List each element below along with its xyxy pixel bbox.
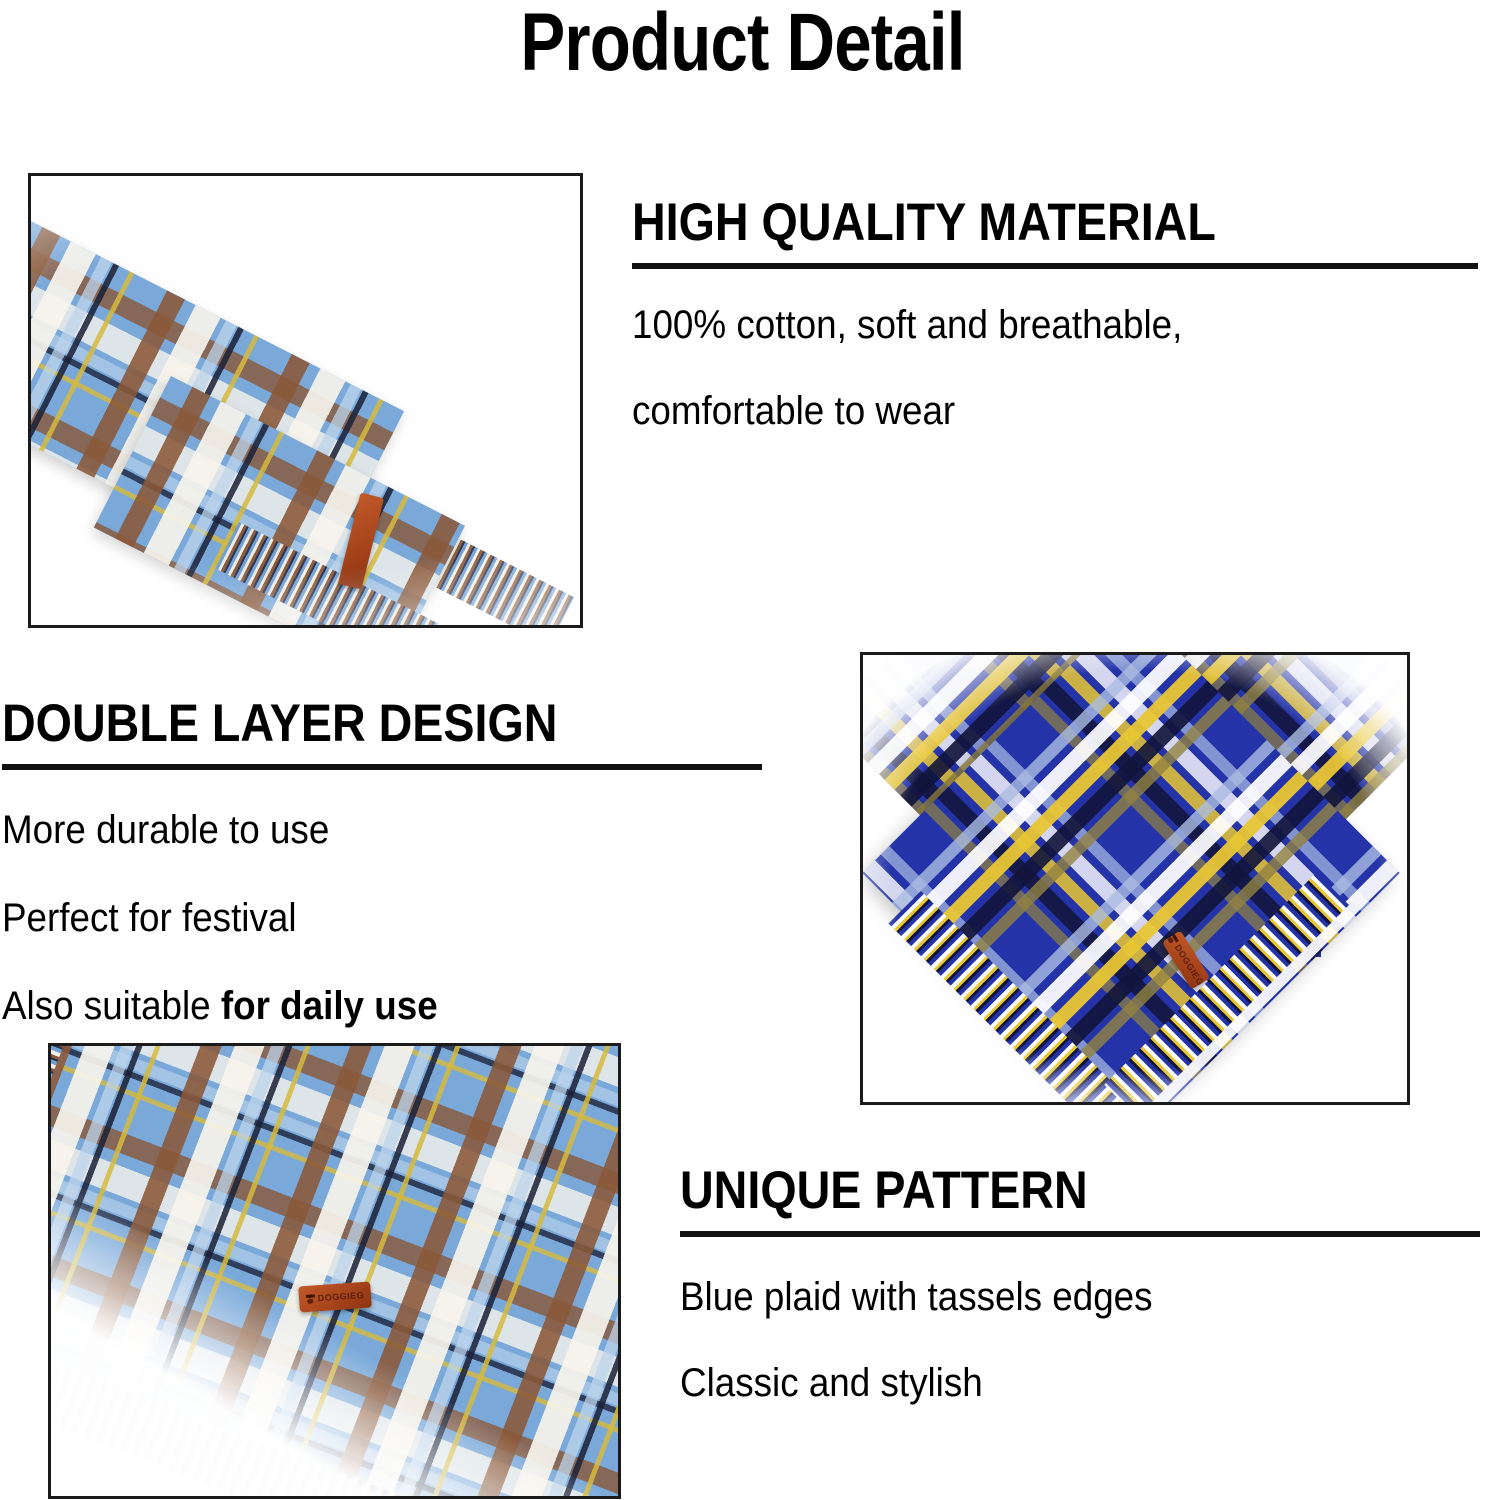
- brand-tag-label: DOGGIEG: [317, 1290, 364, 1303]
- feature-line: Perfect for festival: [2, 898, 703, 938]
- feature-line-plain: Also suitable: [2, 984, 221, 1028]
- feature-body: 100% cotton, soft and breathable, comfor…: [632, 305, 1480, 431]
- feature-line: Blue plaid with tassels edges: [680, 1277, 1416, 1317]
- feature-line-emphasis: for daily use: [221, 984, 438, 1028]
- heading-rule: [632, 263, 1478, 269]
- feature-heading: HIGH QUALITY MATERIAL: [632, 196, 1378, 249]
- heading-rule: [2, 764, 762, 770]
- product-photo-blue-triangle: DOGGIEG: [860, 652, 1410, 1105]
- photo-inner: [31, 176, 580, 625]
- page-title: Product Detail: [134, 2, 1352, 84]
- paw-icon: [305, 1294, 315, 1304]
- leather-brand-tag: DOGGIEG: [298, 1282, 372, 1313]
- feature-block-double-layer: DOUBLE LAYER DESIGN More durable to use …: [2, 697, 764, 1026]
- feature-line: Also suitable for daily use: [2, 986, 703, 1026]
- heading-rule: [680, 1231, 1480, 1237]
- photo-inner: DOGGIEG: [51, 1046, 618, 1496]
- feature-heading: UNIQUE PATTERN: [680, 1164, 1384, 1217]
- feature-heading: DOUBLE LAYER DESIGN: [2, 697, 673, 750]
- feature-line: More durable to use: [2, 810, 703, 850]
- product-photo-folded-strip: [28, 173, 583, 628]
- feature-body: More durable to use Perfect for festival…: [2, 810, 764, 1026]
- feature-block-material: HIGH QUALITY MATERIAL 100% cotton, soft …: [632, 196, 1480, 431]
- feature-line: 100% cotton, soft and breathable,: [632, 305, 1412, 345]
- feature-line: Classic and stylish: [680, 1363, 1416, 1403]
- product-photo-fabric-closeup: DOGGIEG: [48, 1043, 621, 1499]
- photo-inner: DOGGIEG: [863, 655, 1407, 1102]
- feature-block-pattern: UNIQUE PATTERN Blue plaid with tassels e…: [680, 1164, 1480, 1403]
- feature-body: Blue plaid with tassels edges Classic an…: [680, 1277, 1480, 1403]
- feature-line: comfortable to wear: [632, 391, 1412, 431]
